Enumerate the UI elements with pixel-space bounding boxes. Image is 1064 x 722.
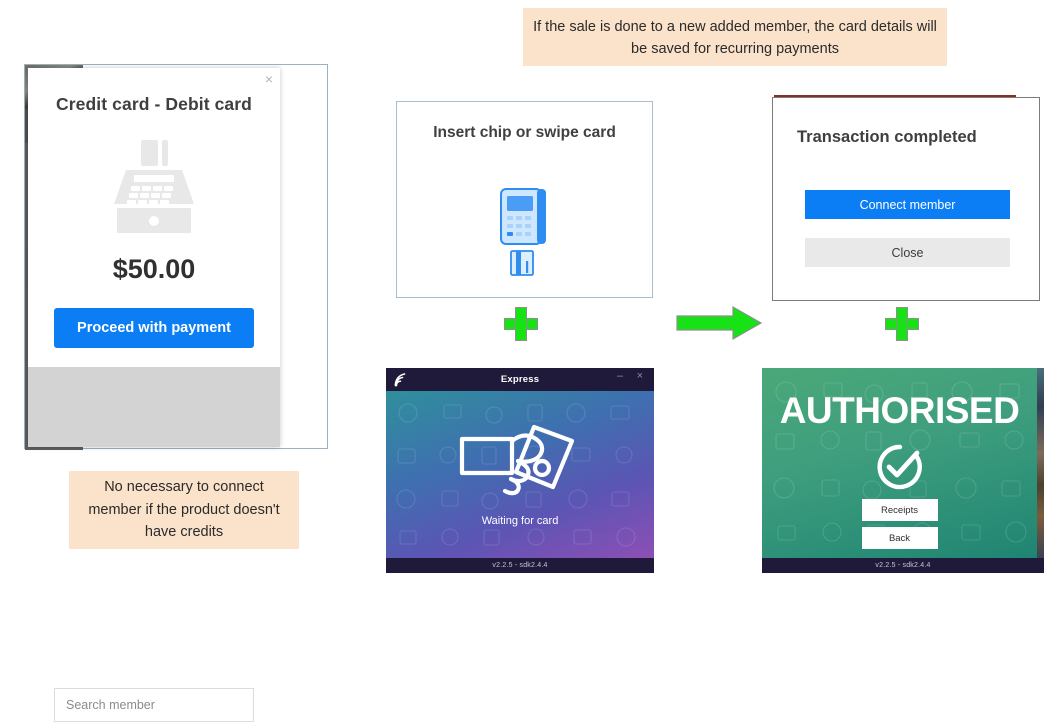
cash-register-icon [104,138,204,234]
insert-card-panel: Insert chip or swipe card [396,101,653,298]
express-terminal-window: Express – × [386,368,654,573]
insert-card-title: Insert chip or swipe card [397,124,652,142]
connect-member-button[interactable]: Connect member [805,190,1010,219]
modal-title: Credit card - Debit card [28,94,280,115]
search-member-input[interactable] [54,688,254,722]
background-edge-strip [1037,368,1044,558]
minimize-icon[interactable]: – [617,370,623,382]
check-circle-icon [877,444,923,490]
proceed-with-payment-button[interactable]: Proceed with payment [54,308,254,348]
express-version-label: v2.2.5 - sdk2.4.4 [386,558,654,573]
authorised-body: AUTHORISED Receipts Back [762,368,1037,558]
payment-modal: × Credit card - Debit card $50.00 Procee… [28,68,280,447]
transaction-dialog: Transaction completed Connect member Clo… [772,97,1040,301]
express-status-text: Waiting for card [386,515,654,527]
transaction-completed-panel: Transaction completed Connect member Clo… [772,95,1040,301]
receipts-button[interactable]: Receipts [862,499,938,521]
pos-screenshot: Fruit Salad $3.00 × Credit card - Debit … [24,64,328,449]
callout-no-member-needed: No necessary to connect member if the pr… [69,471,299,549]
back-button[interactable]: Back [862,527,938,549]
callout-recurring-payments: If the sale is done to a new added membe… [523,8,947,66]
authorised-heading: AUTHORISED [762,390,1037,432]
authorised-version-label: v2.2.5 - sdk2.4.4 [762,558,1044,573]
plus-connector-1 [504,307,538,341]
close-icon[interactable]: × [265,72,273,86]
express-screen: Waiting for card [386,391,654,558]
plus-connector-2 [885,307,919,341]
member-search-section [28,367,280,447]
hand-with-card-icon [456,411,584,497]
transaction-title: Transaction completed [797,128,977,147]
express-window-title: Express [386,368,654,391]
close-icon[interactable]: × [637,370,643,382]
flow-arrow-icon [676,305,762,341]
authorised-screen: AUTHORISED Receipts Back v2.2.5 - sdk2.4… [762,368,1044,573]
close-button[interactable]: Close [805,238,1010,267]
callout-bottom-text: No necessary to connect member if the pr… [79,476,289,543]
card-reader-icon [498,187,552,277]
payment-amount: $50.00 [28,254,280,285]
